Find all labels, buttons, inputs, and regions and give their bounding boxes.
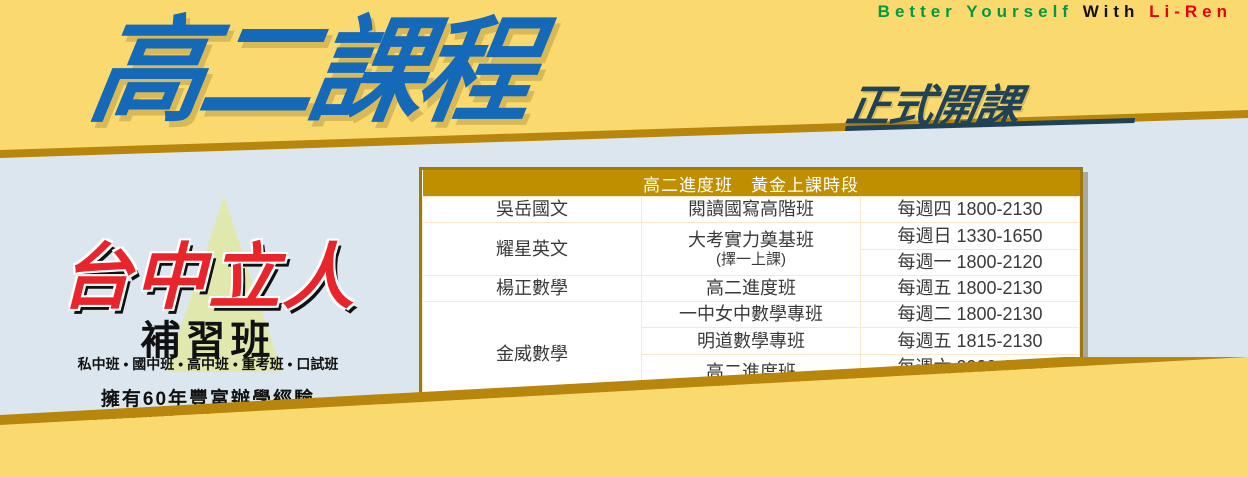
cell-course: 一中女中數學專班 [642, 302, 861, 328]
cell-course: 明道數學專班 [642, 328, 861, 354]
tagline-black: With [1083, 2, 1140, 21]
cell-course: 大考實力奠基班(擇一上課) [642, 223, 861, 276]
table-header-row: 高二進度班 黃金上課時段 [423, 170, 1080, 197]
cell-time: 每週一 1800-2120 [861, 249, 1080, 275]
cell-time: 每週日 1330-1650 [861, 223, 1080, 249]
poster-canvas: Better Yourself With Li-Ren 高二課程 正式開課 台中… [0, 0, 1248, 477]
tagline-red: Li-Ren [1149, 2, 1232, 21]
cell-time: 每週五 1800-2130 [861, 275, 1080, 301]
course-title: 一中女中數學專班 [679, 304, 823, 324]
cell-time: 每週五 1815-2130 [861, 328, 1080, 354]
course-title: 高二進度班 [706, 278, 796, 298]
logo: 台中立人 補習班 私中班 • 國中班 • 高中班 • 重考班 • 口試班 擁有6… [18, 196, 398, 426]
table-row: 耀星英文大考實力奠基班(擇一上課)每週日 1330-1650 [423, 223, 1080, 249]
course-title: 大考實力奠基班 [688, 230, 814, 250]
course-note: (擇一上課) [646, 251, 856, 268]
cell-teacher: 楊正數學 [423, 275, 642, 301]
cell-time: 每週二 1800-2130 [861, 302, 1080, 328]
tagline-green: Better Yourself [878, 2, 1073, 21]
main-title: 高二課程 [83, 14, 537, 129]
course-title: 明道數學專班 [697, 331, 805, 351]
cell-course: 高二進度班 [642, 275, 861, 301]
table-row: 吳岳國文閱讀國寫高階班每週四 1800-2130 [423, 197, 1080, 223]
cell-course: 閱讀國寫高階班 [642, 197, 861, 223]
table-header-title: 高二進度班 黃金上課時段 [423, 170, 1080, 197]
cell-teacher: 吳岳國文 [423, 197, 642, 223]
logo-class-list: 私中班 • 國中班 • 高中班 • 重考班 • 口試班 [18, 354, 398, 374]
course-title: 閱讀國寫高階班 [688, 199, 814, 219]
table-row: 金威數學一中女中數學專班每週二 1800-2130 [423, 302, 1080, 328]
cell-time: 每週四 1800-2130 [861, 197, 1080, 223]
table-row: 楊正數學高二進度班每週五 1800-2130 [423, 275, 1080, 301]
cell-teacher: 耀星英文 [423, 223, 642, 276]
tagline: Better Yourself With Li-Ren [878, 2, 1232, 22]
